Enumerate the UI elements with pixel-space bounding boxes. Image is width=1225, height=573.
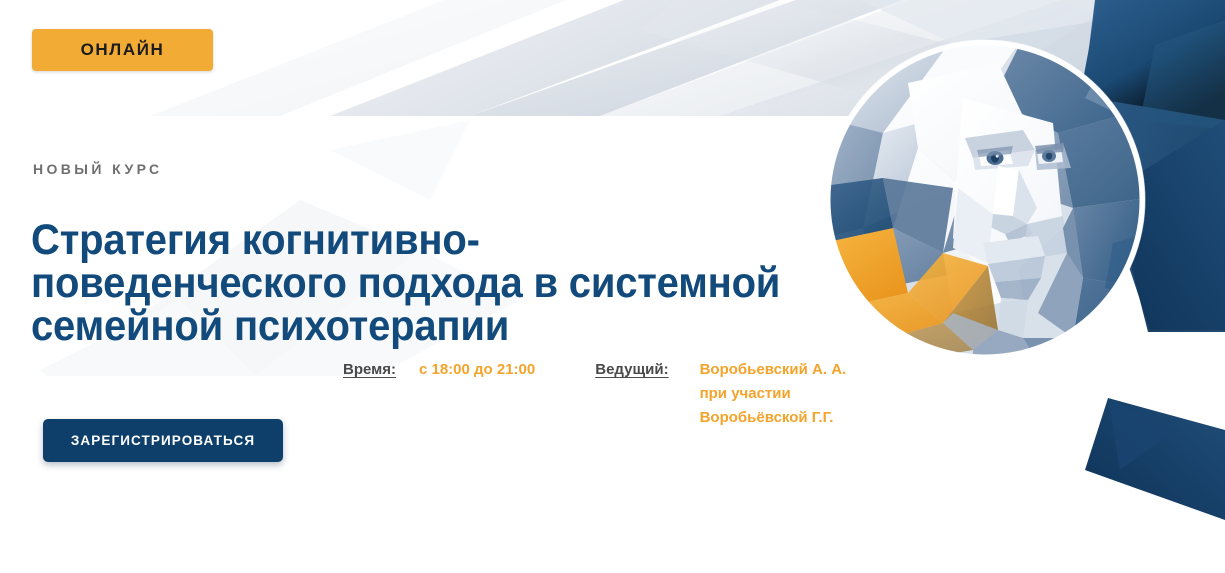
low-poly-face-circle-icon — [823, 38, 1147, 362]
meta-host-line-3: Воробьёвской Г.Г. — [700, 406, 847, 430]
register-button[interactable]: ЗАРЕГИСТРИРОВАТЬСЯ — [43, 419, 283, 462]
meta-host-line-2: при участии — [700, 382, 847, 406]
meta-time: Время: с 18:00 до 21:00 — [343, 358, 535, 382]
meta-time-value: с 18:00 до 21:00 — [419, 358, 535, 382]
online-badge: ОНЛАЙН — [32, 29, 213, 71]
meta-host-label: Ведущий: — [595, 358, 668, 382]
meta-time-label: Время: — [343, 358, 396, 382]
course-promo-banner: ОНЛАЙН НОВЫЙ КУРС Стратегия когнитивно- … — [0, 0, 1225, 573]
course-eyebrow-label: НОВЫЙ КУРС — [33, 161, 162, 177]
page-title-line-1: Стратегия когнитивно- — [31, 219, 766, 262]
course-meta: Время: с 18:00 до 21:00 Ведущий: Воробье… — [343, 358, 846, 430]
page-title-line-2: поведенческого подхода в системной — [31, 262, 766, 305]
page-title: Стратегия когнитивно- поведенческого под… — [31, 219, 766, 348]
meta-host: Ведущий: Воробьевский А. А. при участии … — [595, 358, 846, 430]
page-title-line-3: семейной психотерапии — [31, 305, 766, 348]
meta-host-value: Воробьевский А. А. при участии Воробьёвс… — [700, 358, 847, 430]
